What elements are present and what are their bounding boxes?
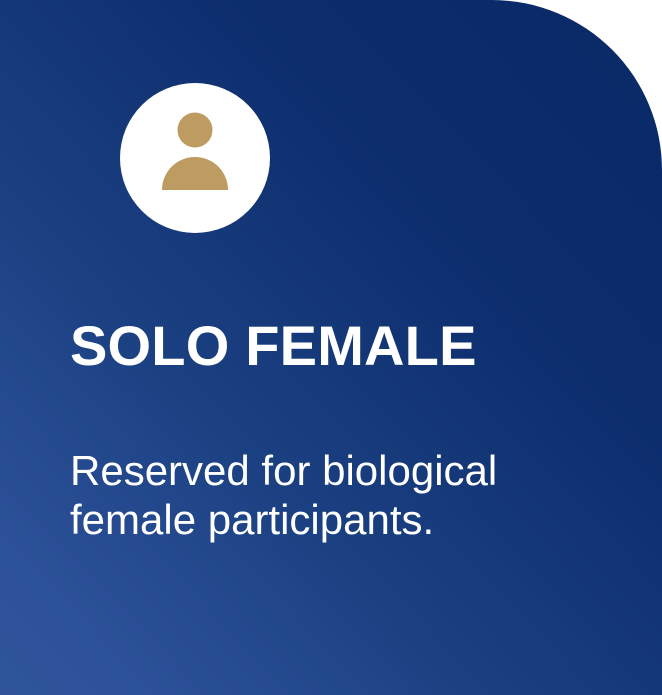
card-title: SOLO FEMALE	[70, 318, 477, 374]
card-description: Reserved for biological female participa…	[70, 446, 630, 544]
solo-female-category-card[interactable]: SOLO FEMALE Reserved for biological fema…	[0, 0, 662, 695]
person-avatar-icon	[120, 83, 270, 233]
avatar-badge	[120, 83, 270, 233]
